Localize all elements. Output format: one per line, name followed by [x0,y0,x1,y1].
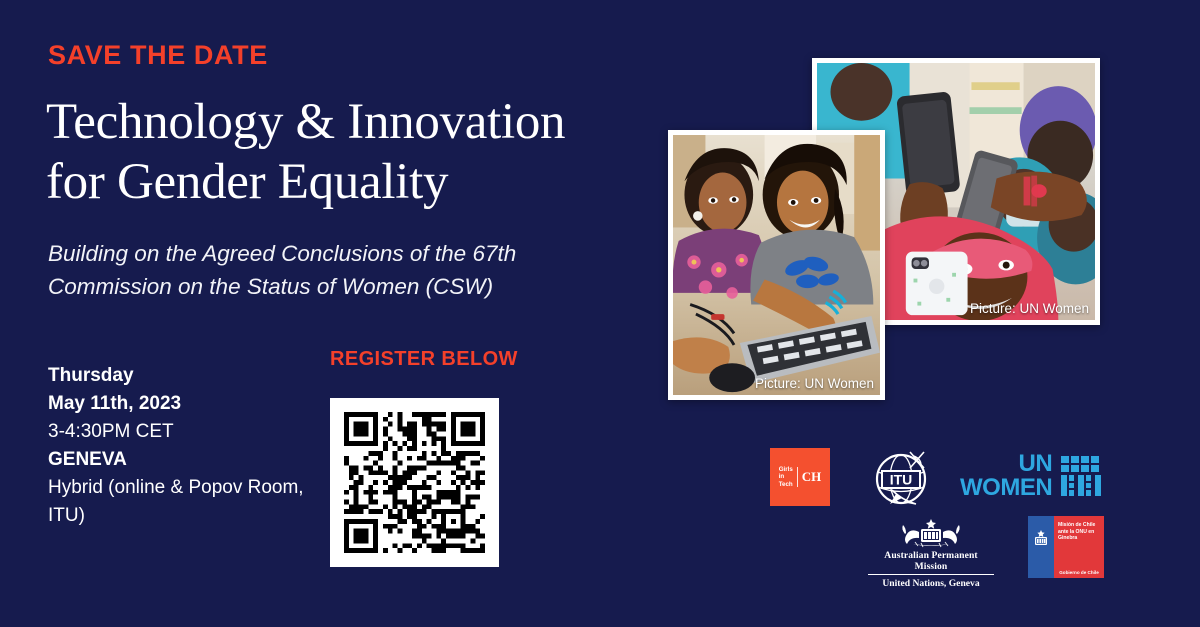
register-below-label: REGISTER BELOW [330,348,518,371]
itu-globe-icon: ITU [870,446,932,508]
git-line-2: in [779,473,793,481]
event-day: Thursday [48,362,308,390]
svg-text:ITU: ITU [890,472,913,488]
girls-in-tech-lockup: Girls in Tech CH [779,466,822,489]
photo-credit: Picture: UN Women [970,301,1089,316]
un-women-line-1: UN [960,452,1052,476]
un-women-line-2: WOMEN [960,476,1052,500]
git-line-3: Tech [779,481,793,489]
event-venue: Hybrid (online & Popov Room, ITU) [48,474,308,530]
qr-code-image [344,412,485,553]
event-details: Thursday May 11th, 2023 3-4:30PM CET GEN… [48,362,308,530]
chile-logo-blue-panel: Gobierno de Chile [1028,516,1054,578]
girls-in-tech-wordmark: Girls in Tech [779,466,793,489]
headline-line-1: Technology & Innovation [46,92,646,152]
australian-coat-of-arms-icon [895,518,967,548]
australian-permanent-mission-logo: Australian Permanent Mission United Nati… [868,518,994,589]
girls-in-tech-chapter: CH [802,469,822,485]
registration-qr-code[interactable] [330,398,499,567]
un-women-emblem-icon [1059,454,1103,498]
subtitle: Building on the Agreed Conclusions of th… [48,238,628,303]
page-title: Technology & Innovation for Gender Equal… [46,92,646,212]
git-line-1: Girls [779,466,793,474]
itu-logo: ITU [870,446,932,508]
chile-logo-red-panel: Misión de Chile ante la ONU en Ginebra G… [1054,516,1104,578]
event-date: May 11th, 2023 [48,390,308,418]
australian-mission-line-1: Australian Permanent Mission [868,550,994,575]
photo-two-women-at-laptop: Picture: UN Women [668,130,885,400]
girls-in-tech-divider [797,467,798,487]
girls-in-tech-logo: Girls in Tech CH [770,448,830,506]
chile-emblem-icon [1032,530,1050,548]
headline-line-2: for Gender Equality [46,152,646,212]
un-women-wordmark: UN WOMEN [960,452,1052,499]
photo-a-inner: Picture: UN Women [673,135,880,395]
photo-credit: Picture: UN Women [755,376,874,391]
event-time: 3-4:30PM CET [48,418,308,446]
chile-mission-text: Misión de Chile ante la ONU en Ginebra [1058,522,1101,542]
photo-a-artwork [673,135,880,395]
australian-mission-line-2: United Nations, Geneva [868,575,994,589]
event-city: GENEVA [48,446,308,474]
chile-mission-logo: Gobierno de Chile Misión de Chile ante l… [1028,516,1104,578]
chile-government-label: Gobierno de Chile [1056,570,1102,575]
save-the-date-eyebrow: SAVE THE DATE [48,40,268,71]
un-women-logo: UN WOMEN [960,452,1103,499]
